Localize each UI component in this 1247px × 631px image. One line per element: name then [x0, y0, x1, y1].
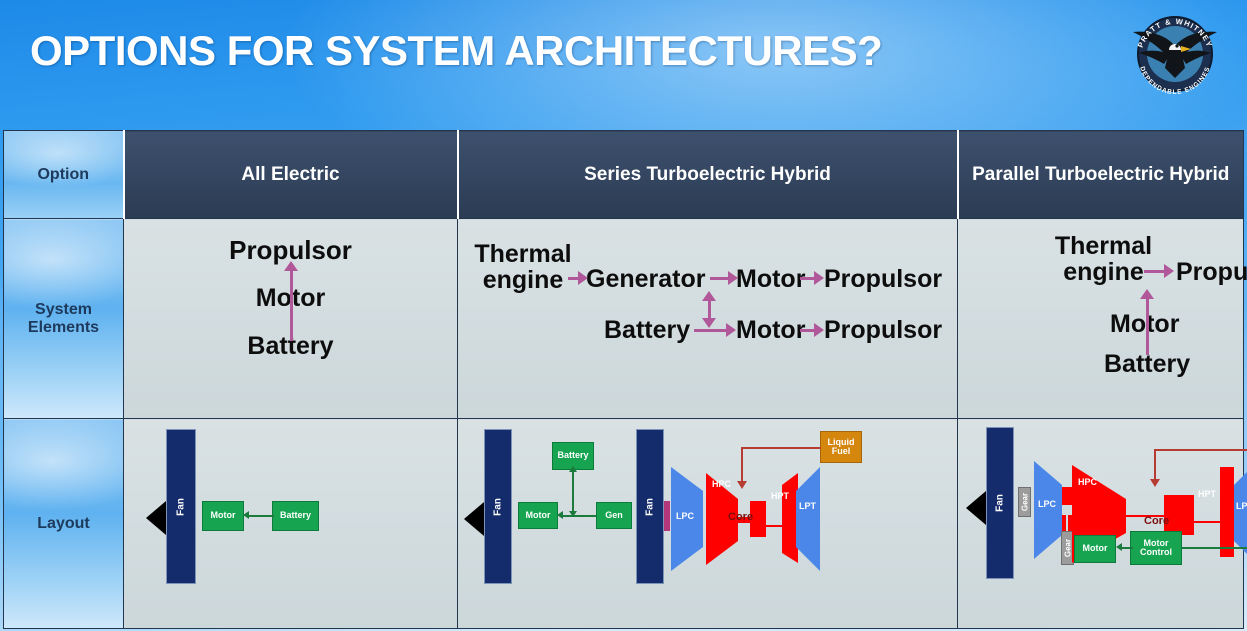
- block-fan-label: Fan: [176, 498, 187, 516]
- pratt-whitney-logo: PRATT & WHITNEY DEPENDABLE ENGINES: [1123, 6, 1227, 98]
- block-fan-turbofan: Fan: [636, 429, 664, 584]
- line-fuel-vertical: [1154, 449, 1156, 481]
- spinner-cone-icon: [146, 501, 166, 535]
- arrowhead-left-icon: [557, 511, 563, 519]
- line-gen-battery-link: [572, 471, 574, 515]
- block-fan-label: Fan: [645, 498, 656, 516]
- row-header-system-elements: System Elements: [4, 219, 124, 419]
- line-control-to-motor: [1121, 547, 1133, 549]
- row-header-system-elements-text: System Elements: [4, 301, 123, 337]
- node-propulsor: Propulsor: [1176, 259, 1247, 285]
- diagram-system-elements-series: Thermal engine Generator Motor Propulsor…: [458, 219, 957, 418]
- column-header-parallel: Parallel Turboelectric Hybrid: [958, 131, 1244, 219]
- diagram-layout-parallel: Fan Gear LPC Gear: [958, 419, 1243, 628]
- block-fan: Fan: [986, 427, 1014, 579]
- arrowhead-left-icon: [243, 511, 249, 519]
- arrow-generator-battery-link: [708, 298, 711, 320]
- node-thermal-engine: Thermal engine: [468, 241, 578, 294]
- arrowhead-down-icon: [737, 481, 747, 489]
- arrowhead-down-icon: [702, 318, 716, 328]
- label-core: Core: [728, 511, 753, 523]
- arrowhead-down-icon: [1150, 479, 1160, 487]
- diagram-system-elements-all-electric: Propulsor Motor Battery: [124, 219, 457, 418]
- label-lpt: LPT: [1236, 501, 1247, 511]
- block-liquid-fuel-line2: Fuel: [828, 447, 855, 456]
- row-header-layout: Layout: [4, 419, 124, 629]
- node-propulsor-bottom: Propulsor: [824, 317, 942, 343]
- label-hpc: HPC: [1078, 477, 1097, 487]
- arrowhead-up-icon: [702, 291, 716, 301]
- component-lpt: [794, 463, 824, 575]
- spinner-cone-icon: [464, 502, 484, 536]
- diagram-system-elements-parallel: Thermal engine Propulsor Motor Battery: [958, 219, 1243, 418]
- node-motor-bottom: Motor: [736, 317, 805, 343]
- cell-layout-parallel: Fan Gear LPC Gear: [958, 419, 1244, 629]
- label-core: Core: [1144, 515, 1169, 527]
- arrowhead-down-icon: [569, 511, 577, 517]
- line-power-to-control: [1182, 547, 1247, 549]
- label-lpt: LPT: [799, 501, 816, 511]
- label-lpc: LPC: [676, 511, 694, 521]
- block-generator: Gen: [596, 502, 632, 529]
- line-fuel-horizontal: [1154, 449, 1247, 451]
- block-fan-label: Fan: [493, 498, 504, 516]
- cell-layout-all-electric: Fan Motor Battery: [124, 419, 458, 629]
- arrowhead-right-icon: [814, 271, 824, 285]
- block-liquid-fuel: Liquid Fuel: [820, 431, 862, 463]
- arrow-battery-to-propulsor: [290, 269, 293, 341]
- block-fan-propulsor: Fan: [484, 429, 512, 584]
- slide-header: OPTIONS FOR SYSTEM ARCHITECTURES? PRATT …: [0, 0, 1247, 128]
- row-header-system-elements-label: System Elements: [4, 301, 123, 337]
- label-hpt: HPT: [771, 491, 789, 501]
- line-battery-to-motor: [248, 515, 274, 517]
- node-thermal-engine: Thermal engine: [1046, 233, 1161, 286]
- node-thermal-engine-line1: Thermal: [468, 241, 578, 267]
- cell-system-elements-series: Thermal engine Generator Motor Propulsor…: [458, 219, 958, 419]
- arrowhead-up-icon: [1140, 289, 1154, 299]
- cell-system-elements-all-electric: Propulsor Motor Battery: [124, 219, 458, 419]
- block-motor-control-line2: Control: [1140, 548, 1172, 557]
- line-gen-to-motor: [562, 515, 596, 517]
- table-row-layout: Layout Fan Motor Battery Fan Motor: [4, 419, 1244, 629]
- block-gear-fan-label: Gear: [1020, 493, 1029, 511]
- block-gear-fan: Gear: [1018, 487, 1031, 517]
- arrow-engine-to-propulsor: [1144, 270, 1166, 273]
- node-thermal-engine-line1: Thermal: [1046, 233, 1161, 259]
- block-motor: Motor: [202, 501, 244, 531]
- cell-layout-series: Fan Motor Battery Gen Fan LPC: [458, 419, 958, 629]
- diagram-layout-series: Fan Motor Battery Gen Fan LPC: [458, 419, 957, 628]
- label-hpt: HPT: [1198, 489, 1216, 499]
- label-hpc: HPC: [712, 479, 731, 489]
- arrowhead-right-icon: [1164, 264, 1174, 278]
- arrowhead-up-icon: [284, 261, 298, 271]
- line-fuel-vertical: [741, 447, 743, 483]
- arrowhead-right-icon: [814, 323, 824, 337]
- row-header-option: Option: [4, 131, 124, 219]
- column-header-series: Series Turboelectric Hybrid: [458, 131, 958, 219]
- block-fan-label: Fan: [995, 494, 1006, 512]
- node-motor: Motor: [1110, 311, 1179, 337]
- component-lpt: [1230, 457, 1247, 569]
- column-header-all-electric: All Electric: [124, 131, 458, 219]
- node-propulsor-top: Propulsor: [824, 266, 942, 292]
- cell-system-elements-parallel: Thermal engine Propulsor Motor Battery: [958, 219, 1244, 419]
- table-row-system-elements: System Elements Propulsor Motor Battery …: [4, 219, 1244, 419]
- arrowhead-left-icon: [1116, 543, 1122, 551]
- node-battery: Battery: [604, 317, 690, 343]
- diagram-layout-all-electric: Fan Motor Battery: [124, 419, 457, 628]
- page-title: OPTIONS FOR SYSTEM ARCHITECTURES?: [30, 27, 882, 75]
- node-generator: Generator: [586, 266, 705, 292]
- arrowhead-up-icon: [569, 466, 577, 472]
- arrowhead-right-icon: [728, 271, 738, 285]
- block-fan: Fan: [166, 429, 196, 584]
- arrowhead-right-icon: [578, 271, 588, 285]
- arrowhead-right-icon: [726, 323, 736, 337]
- line-fuel-horizontal: [741, 447, 821, 449]
- table-header-row: Option All Electric Series Turboelectric…: [4, 131, 1244, 219]
- spinner-cone-icon: [966, 491, 986, 525]
- block-motor: Motor: [1074, 535, 1116, 563]
- node-motor-top: Motor: [736, 266, 805, 292]
- label-lpc: LPC: [1038, 499, 1056, 509]
- node-thermal-engine-line2: engine: [468, 267, 578, 293]
- arrow-battery-to-propulsor: [1146, 297, 1149, 355]
- architecture-comparison-table: Option All Electric Series Turboelectric…: [3, 130, 1244, 629]
- block-motor-control: Motor Control: [1130, 531, 1182, 565]
- block-battery: Battery: [272, 501, 319, 531]
- block-motor: Motor: [518, 502, 558, 529]
